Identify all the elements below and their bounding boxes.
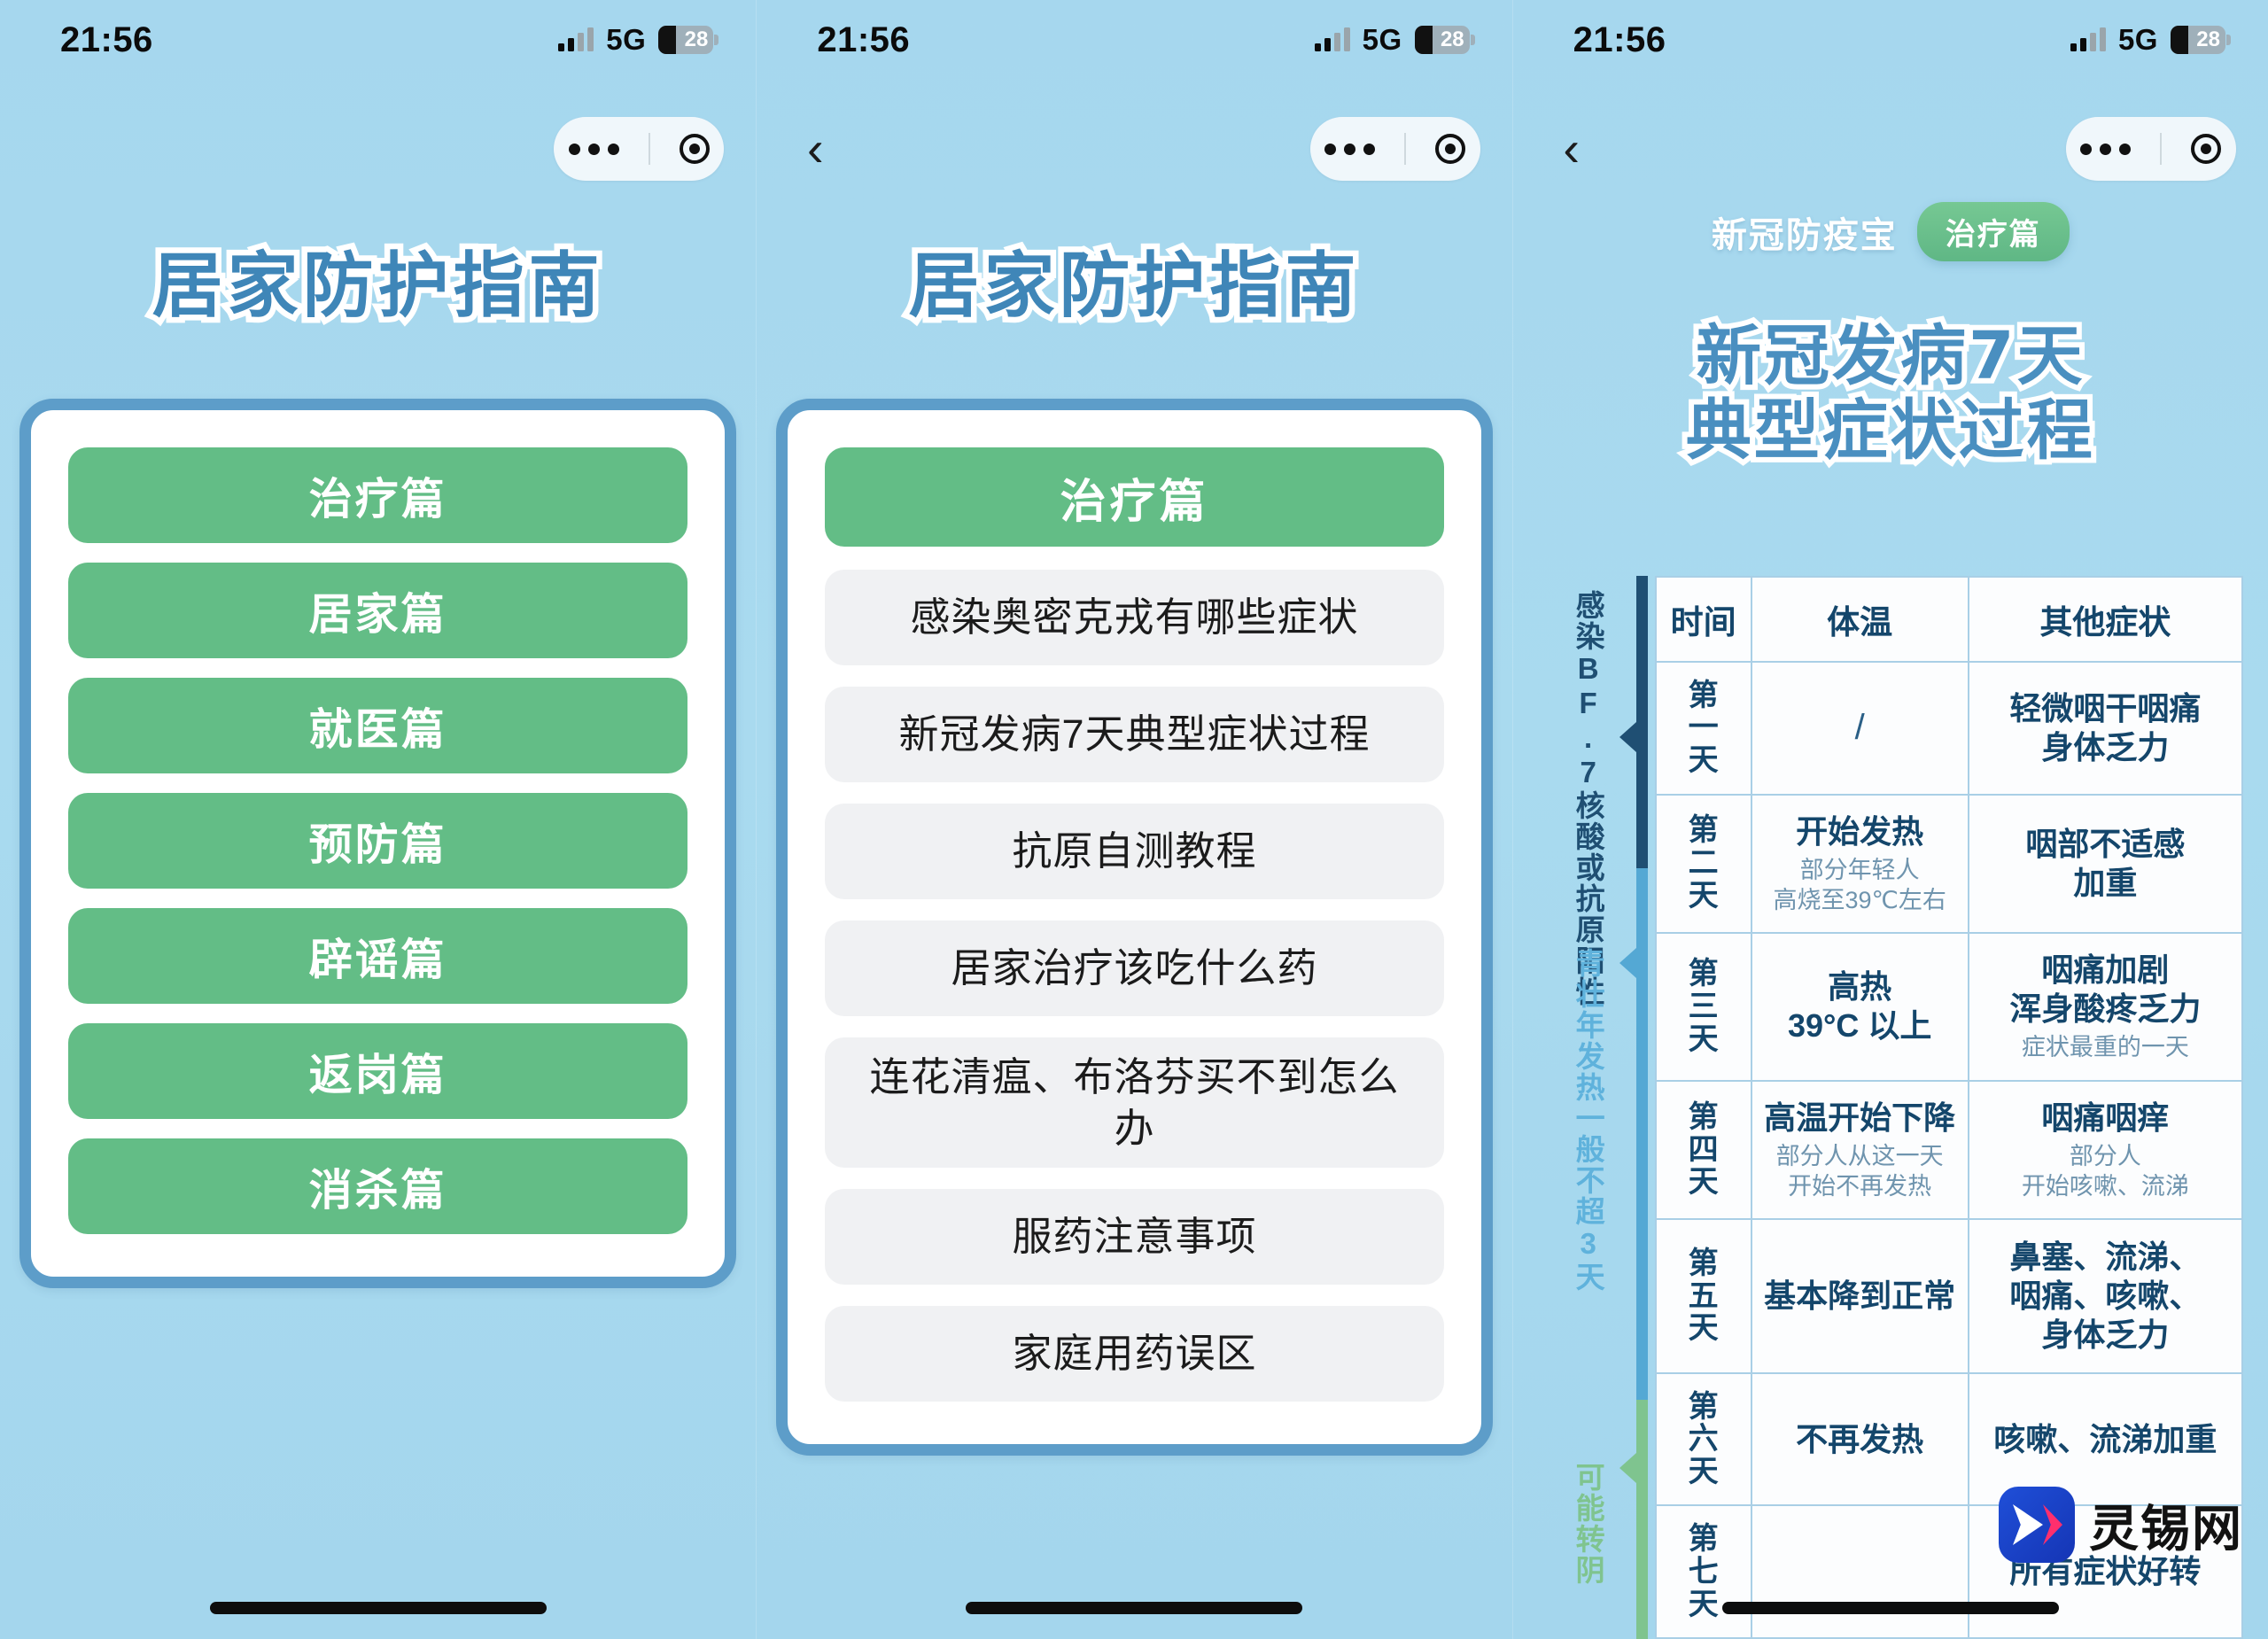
battery-icon: 28 xyxy=(1415,26,1470,54)
cell-symptoms: 咽痛加剧浑身酸疼乏力 症状最重的一天 xyxy=(1969,933,2242,1081)
menu-card-inner: 治疗篇 居家篇 就医篇 预防篇 辟谣篇 返岗篇 消杀篇 xyxy=(43,423,712,1264)
symptom-table-wrap: 感染BF.7核酸或抗原阳性 青壮年发热一般不超3天 可能转阴 时间 体温 xyxy=(1547,576,2243,1639)
cell-day: 第四天 xyxy=(1656,1081,1751,1219)
cell-day: 第六天 xyxy=(1656,1373,1751,1506)
rail-green xyxy=(1636,1400,1648,1639)
home-indicator xyxy=(1722,1602,2059,1614)
cell-symptoms: 轻微咽干咽痛身体乏力 xyxy=(1969,662,2242,795)
battery-percent: 28 xyxy=(2196,27,2220,52)
watermark-text: 灵锡网 xyxy=(2089,1489,2243,1561)
list-item[interactable]: 连花清瘟、布洛芬买不到怎么办 xyxy=(825,1037,1443,1168)
phase-label-fever: 青壮年发热一般不超3天 xyxy=(1571,948,1604,1293)
article-title-line1: 新冠发病7天 xyxy=(1513,319,2268,393)
temp-main: / xyxy=(1758,708,1962,748)
rail-blue xyxy=(1636,868,1648,1400)
table-row: 第二天 开始发热 部分年轻人高烧至39℃左右 咽部不适感加重 xyxy=(1656,795,2242,933)
more-dots-icon[interactable] xyxy=(569,144,619,155)
cell-symptoms: 咽部不适感加重 xyxy=(1969,795,2242,933)
table-header-row: 时间 体温 其他症状 xyxy=(1656,577,2242,662)
temp-main: 不再发热 xyxy=(1758,1420,1962,1459)
treatment-card: 治疗篇 感染奥密克戎有哪些症状 新冠发病7天典型症状过程 抗原自测教程 居家治疗… xyxy=(776,399,1492,1456)
list-item[interactable]: 感染奥密克戎有哪些症状 xyxy=(825,570,1443,665)
symptom-main: 咳嗽、流涕加重 xyxy=(1975,1420,2236,1459)
cell-day: 第五天 xyxy=(1656,1219,1751,1373)
home-indicator xyxy=(210,1602,547,1614)
table-row: 第三天 高热39°C 以上 咽痛加剧浑身酸疼乏力 症状最重的一天 xyxy=(1656,933,2242,1081)
cell-temperature: / xyxy=(1751,662,1969,795)
cell-temperature: 高热39°C 以上 xyxy=(1751,933,1969,1081)
symptom-main: 鼻塞、流涕、咽痛、咳嗽、身体乏力 xyxy=(1975,1238,2236,1355)
more-dots-icon[interactable] xyxy=(2080,144,2131,155)
nav-row: ‹ xyxy=(757,115,1511,183)
article-title: 新冠发病7天 典型症状过程 xyxy=(1513,319,2268,469)
network-type-label: 5G xyxy=(606,23,646,57)
cell-symptoms: 鼻塞、流涕、咽痛、咳嗽、身体乏力 xyxy=(1969,1219,2242,1373)
lingxi-logo-icon xyxy=(1999,1487,2075,1563)
screen-treatment-list: 21:56 5G 28 ‹ 居家防护指南 治疗篇 感染奥密克戎有哪些症状 新冠发… xyxy=(756,0,1511,1639)
phase-labels: 感染BF.7核酸或抗原阳性 青壮年发热一般不超3天 可能转阴 xyxy=(1547,576,1628,1639)
watermark: 灵锡网 xyxy=(1999,1487,2243,1563)
menu-card: 治疗篇 居家篇 就医篇 预防篇 辟谣篇 返岗篇 消杀篇 xyxy=(19,399,736,1288)
table-row: 第五天 基本降到正常 鼻塞、流涕、咽痛、咳嗽、身体乏力 xyxy=(1656,1219,2242,1373)
nav-row xyxy=(0,115,756,183)
temp-sub: 部分年轻人高烧至39℃左右 xyxy=(1758,855,1962,915)
cell-temperature: 高温开始下降 部分人从这一天开始不再发热 xyxy=(1751,1081,1969,1219)
back-arrow-icon[interactable]: ‹ xyxy=(788,115,842,183)
cell-temperature: 开始发热 部分年轻人高烧至39℃左右 xyxy=(1751,795,1969,933)
signal-bars-icon xyxy=(558,28,594,51)
section-header-treatment[interactable]: 治疗篇 xyxy=(825,447,1443,547)
status-clock: 21:56 xyxy=(60,20,153,60)
capsule-divider xyxy=(1404,133,1406,165)
symptom-table: 时间 体温 其他症状 第一天 / 轻微咽干咽痛身体乏力 xyxy=(1655,576,2243,1639)
menu-button-disinfection[interactable]: 消杀篇 xyxy=(68,1138,687,1234)
capsule-divider xyxy=(649,133,650,165)
col-header-symptoms: 其他症状 xyxy=(1969,577,2242,662)
miniprogram-capsule[interactable] xyxy=(554,117,724,181)
battery-icon: 28 xyxy=(2171,26,2225,54)
temp-main: 高热39°C 以上 xyxy=(1758,967,1962,1045)
temp-main: 开始发热 xyxy=(1758,812,1962,851)
cell-day: 第一天 xyxy=(1656,662,1751,795)
status-indicators: 5G 28 xyxy=(558,23,713,57)
symptom-main: 咽痛加剧浑身酸疼乏力 xyxy=(1975,951,2236,1029)
status-bar: 21:56 5G 28 xyxy=(1513,0,2268,80)
cell-temperature: 基本降到正常 xyxy=(1751,1219,1969,1373)
temp-sub: 部分人从这一天开始不再发热 xyxy=(1758,1141,1962,1201)
symptom-sub: 症状最重的一天 xyxy=(1975,1032,2236,1062)
nav-row: ‹ xyxy=(1513,115,2268,183)
more-dots-icon[interactable] xyxy=(1324,144,1375,155)
col-header-temperature: 体温 xyxy=(1751,577,1969,662)
menu-button-medical[interactable]: 就医篇 xyxy=(68,678,687,773)
signal-bars-icon xyxy=(2070,28,2106,51)
table-row: 第四天 高温开始下降 部分人从这一天开始不再发热 咽痛咽痒 部分人开始咳嗽、流涕 xyxy=(1656,1081,2242,1219)
symptom-main: 轻微咽干咽痛身体乏力 xyxy=(1975,689,2236,767)
miniprogram-capsule[interactable] xyxy=(1310,117,1480,181)
status-bar: 21:56 5G 28 xyxy=(0,0,756,80)
back-arrow-icon[interactable]: ‹ xyxy=(1545,115,1598,183)
symptom-main: 咽痛咽痒 xyxy=(1975,1099,2236,1138)
battery-percent: 28 xyxy=(685,27,709,52)
target-icon[interactable] xyxy=(680,134,710,164)
menu-button-prevention[interactable]: 预防篇 xyxy=(68,793,687,889)
cell-temperature xyxy=(1751,1505,1969,1638)
status-clock: 21:56 xyxy=(817,20,910,60)
target-icon[interactable] xyxy=(1435,134,1465,164)
capsule-divider xyxy=(2160,133,2162,165)
list-item[interactable]: 服药注意事项 xyxy=(825,1189,1443,1285)
arrow-green-icon xyxy=(1619,1453,1636,1483)
cell-day: 第七天 xyxy=(1656,1505,1751,1638)
cell-day: 第三天 xyxy=(1656,933,1751,1081)
list-item[interactable]: 新冠发病7天典型症状过程 xyxy=(825,687,1443,782)
page-title: 居家防护指南 xyxy=(757,229,1511,331)
list-item[interactable]: 居家治疗该吃什么药 xyxy=(825,920,1443,1016)
home-indicator xyxy=(966,1602,1302,1614)
status-indicators: 5G 28 xyxy=(2070,23,2225,57)
status-badge: 治疗篇 xyxy=(1917,202,2070,261)
arrow-blue-icon xyxy=(1619,948,1636,978)
screen-article: 21:56 5G 28 ‹ 新冠防疫宝 治疗篇 新冠发病7天 典型症状过程 xyxy=(1512,0,2268,1639)
page-title: 居家防护指南 xyxy=(0,229,756,331)
target-icon[interactable] xyxy=(2191,134,2221,164)
menu-button-rumor[interactable]: 辟谣篇 xyxy=(68,908,687,1004)
network-type-label: 5G xyxy=(2118,23,2158,57)
battery-percent: 28 xyxy=(1441,27,1464,52)
list-item[interactable]: 抗原自测教程 xyxy=(825,804,1443,899)
cell-symptoms: 咽痛咽痒 部分人开始咳嗽、流涕 xyxy=(1969,1081,2242,1219)
screens-container: 21:56 5G 28 居家防护指南 治疗篇 居家篇 就医篇 预防篇 辟谣篇 xyxy=(0,0,2268,1639)
list-item[interactable]: 家庭用药误区 xyxy=(825,1306,1443,1402)
phase-rail xyxy=(1628,576,1655,1639)
status-indicators: 5G 28 xyxy=(1315,23,1470,57)
symptom-sub: 部分人开始咳嗽、流涕 xyxy=(1975,1141,2236,1201)
status-clock: 21:56 xyxy=(1573,20,1666,60)
screen-menu: 21:56 5G 28 居家防护指南 治疗篇 居家篇 就医篇 预防篇 辟谣篇 xyxy=(0,0,756,1639)
miniprogram-capsule[interactable] xyxy=(2066,117,2236,181)
table-row: 第六天 不再发热 咳嗽、流涕加重 xyxy=(1656,1373,2242,1506)
cell-temperature: 不再发热 xyxy=(1751,1373,1969,1506)
cell-day: 第二天 xyxy=(1656,795,1751,933)
menu-button-return-work[interactable]: 返岗篇 xyxy=(68,1023,687,1119)
network-type-label: 5G xyxy=(1363,23,1402,57)
temp-main: 高温开始下降 xyxy=(1758,1099,1962,1138)
status-bar: 21:56 5G 28 xyxy=(757,0,1511,80)
brand-name: 新冠防疫宝 xyxy=(1712,206,1898,258)
menu-button-treatment[interactable]: 治疗篇 xyxy=(68,447,687,543)
menu-button-home[interactable]: 居家篇 xyxy=(68,563,687,658)
article-title-line2: 典型症状过程 xyxy=(1513,393,2268,468)
brand-row: 新冠防疫宝 治疗篇 xyxy=(1513,202,2268,261)
treatment-card-inner: 治疗篇 感染奥密克戎有哪些症状 新冠发病7天典型症状过程 抗原自测教程 居家治疗… xyxy=(800,423,1468,1432)
table-row: 第一天 / 轻微咽干咽痛身体乏力 xyxy=(1656,662,2242,795)
cell-symptoms: 咳嗽、流涕加重 xyxy=(1969,1373,2242,1506)
battery-icon: 28 xyxy=(658,26,713,54)
temp-main: 基本降到正常 xyxy=(1758,1277,1962,1316)
phase-label-negative: 可能转阴 xyxy=(1571,1462,1604,1586)
arrow-dark-icon xyxy=(1619,722,1636,752)
symptom-main: 咽部不适感加重 xyxy=(1975,825,2236,903)
signal-bars-icon xyxy=(1315,28,1350,51)
phase-label-infection: 感染BF.7核酸或抗原阳性 xyxy=(1571,590,1604,1007)
col-header-time: 时间 xyxy=(1656,577,1751,662)
